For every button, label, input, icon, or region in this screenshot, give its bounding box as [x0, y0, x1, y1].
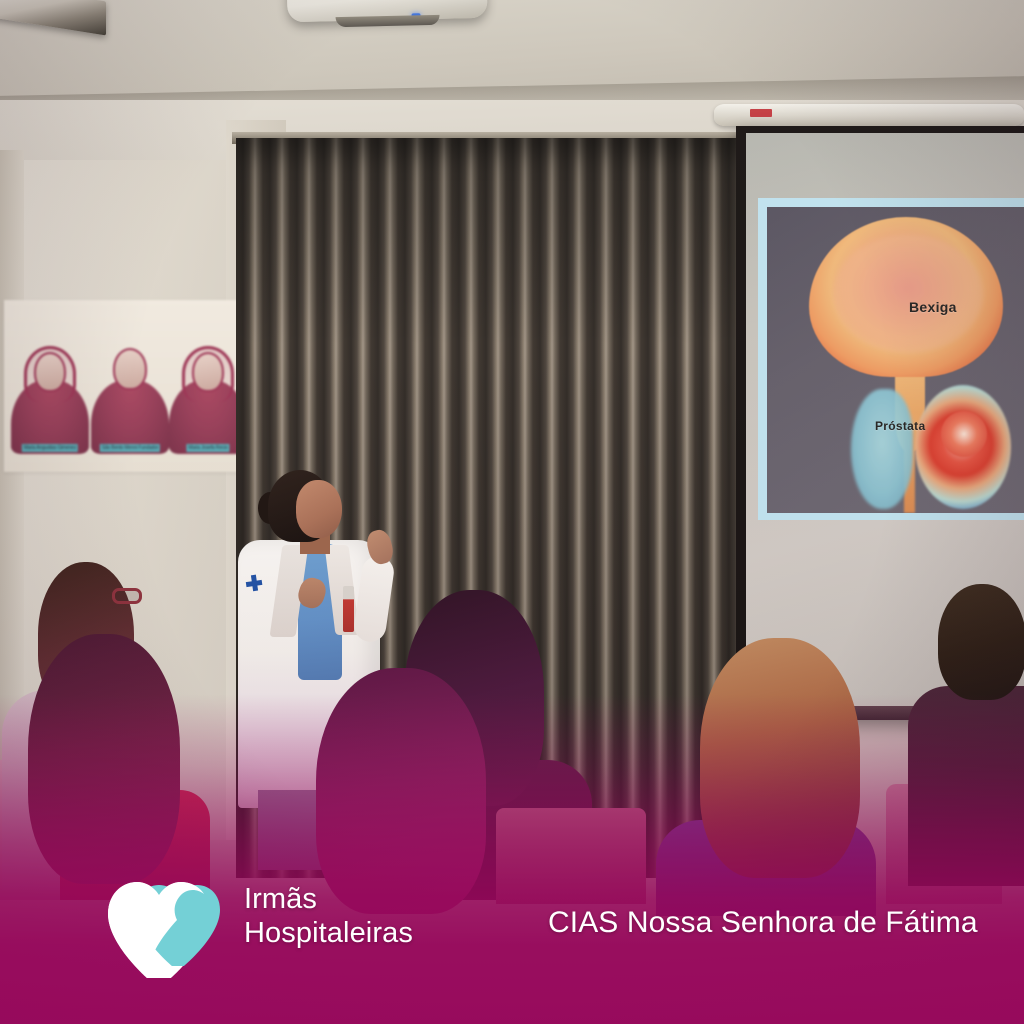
figure-head	[34, 352, 66, 392]
attendee-head	[316, 668, 486, 914]
screen-housing	[714, 104, 1024, 126]
screen-housing-label-icon	[750, 109, 772, 117]
figure-body	[91, 380, 169, 454]
wall-art-name-label: Maria Josefa Recio	[186, 444, 229, 452]
brand-name-line1: Irmãs	[244, 883, 317, 915]
attendee-head	[938, 584, 1024, 700]
attendee-head	[700, 638, 860, 878]
wall-art-name-label: São Bento Menni Fundador	[100, 444, 160, 452]
brand-name-line2: Hospitaleiras	[244, 916, 413, 950]
brand-organization-name: Irmãs Hospitaleiras	[244, 882, 413, 950]
prostate-left-lobe-shape	[851, 389, 913, 509]
slide-label-prostata: Próstata	[875, 419, 925, 433]
attendee-torso	[908, 686, 1024, 886]
photo-canvas: Maria Angustias Gimenez São Bento Menni …	[0, 0, 1024, 1024]
figure-head	[192, 352, 224, 392]
wall-art-figure-1: Maria Angustias Gimenez	[8, 304, 92, 454]
figure-head	[113, 348, 147, 390]
slide-label-bexiga: Bexiga	[909, 299, 957, 315]
blue-cross-emblem-icon	[245, 574, 263, 592]
attendee-head	[28, 634, 180, 884]
venue-name: CIAS Nossa Senhora de Fátima	[548, 906, 978, 940]
wall-art-name-label: Maria Angustias Gimenez	[22, 444, 78, 452]
prostate-core-shape	[941, 411, 987, 457]
glasses-icon	[112, 588, 142, 604]
id-badge-icon	[343, 586, 354, 632]
irmas-hospitaleiras-logo	[106, 868, 222, 980]
bladder-interior-shape	[833, 235, 983, 353]
brand-bar: Irmãs Hospitaleiras CIAS Nossa Senhora d…	[0, 912, 1024, 1024]
presenter-face	[296, 480, 342, 538]
slide-anatomy-diagram: Bexiga Próstata	[767, 207, 1024, 513]
wall-art-figure-2: São Bento Menni Fundador	[88, 304, 172, 454]
chair	[496, 808, 646, 904]
wall-art-founders: Maria Angustias Gimenez São Bento Menni …	[4, 300, 252, 472]
double-heart-icon	[106, 868, 222, 980]
projector-led-icon	[411, 13, 420, 17]
